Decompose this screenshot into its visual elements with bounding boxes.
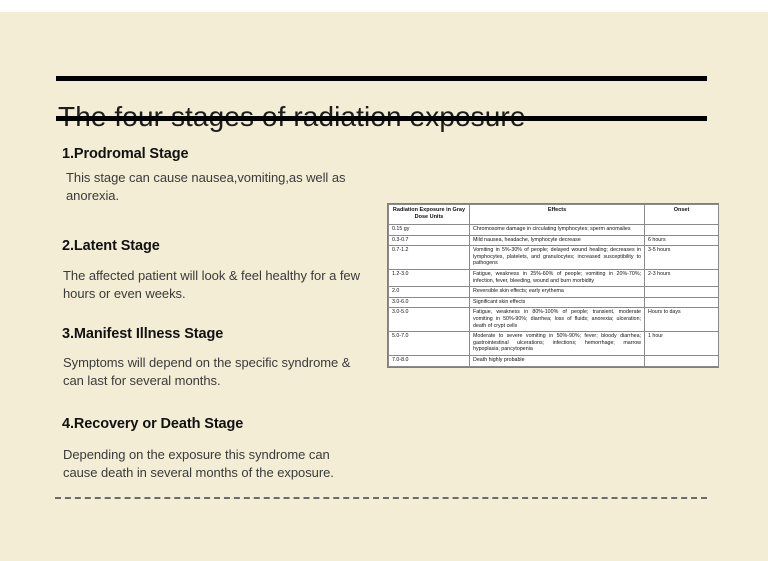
table-row: 0.15 gyChromosome damage in circulating …: [389, 225, 719, 236]
table-row: 3.0-5.0Fatigue, weakness in 80%-100% of …: [389, 308, 719, 332]
column-header-effects: Effects: [470, 205, 645, 225]
table-row: 7.0-8.0Death highly probable: [389, 355, 719, 366]
table-row: 5.0-7.0Moderate to severe vomiting in 50…: [389, 332, 719, 356]
cell-effects: Significant skin effects: [470, 297, 645, 308]
title-rule-top: [56, 76, 707, 81]
cell-onset: [645, 297, 719, 308]
stage-heading: 4.Recovery or Death Stage: [62, 415, 372, 433]
table-row: 1.2-3.0Fatigue, weakness in 25%-60% of p…: [389, 269, 719, 286]
cell-onset: 3-5 hours: [645, 246, 719, 270]
cell-dose: 3.0-6.0: [389, 297, 470, 308]
stage-item-manifest-illness: 3.Manifest Illness Stage Symptoms will d…: [62, 325, 372, 389]
cell-effects: Vomiting in 5%-30% of people; delayed wo…: [470, 246, 645, 270]
stage-item-prodromal: 1.Prodromal Stage This stage can cause n…: [62, 145, 372, 204]
cell-dose: 7.0-8.0: [389, 355, 470, 366]
dashed-divider: [55, 497, 707, 499]
stage-item-latent: 2.Latent Stage The affected patient will…: [62, 237, 372, 302]
cell-effects: Mild nausea, headache, lymphocyte decrea…: [470, 235, 645, 246]
column-header-onset: Onset: [645, 205, 719, 225]
cell-effects: Moderate to severe vomiting in 50%-90%; …: [470, 332, 645, 356]
stage-heading: 2.Latent Stage: [62, 237, 372, 255]
cell-onset: [645, 225, 719, 236]
table-row: 3.0-6.0Significant skin effects: [389, 297, 719, 308]
title-rule-bottom: [56, 116, 707, 121]
table-row: 0.3-0.7Mild nausea, headache, lymphocyte…: [389, 235, 719, 246]
stage-item-recovery-or-death: 4.Recovery or Death Stage Depending on t…: [62, 415, 372, 481]
table-row: 0.7-1.2Vomiting in 5%-30% of people; del…: [389, 246, 719, 270]
cell-dose: 0.3-0.7: [389, 235, 470, 246]
cell-onset: 1 hour: [645, 332, 719, 356]
cell-effects: Chromosome damage in circulating lymphoc…: [470, 225, 645, 236]
slide-canvas: The four stages of radiation exposure 1.…: [0, 12, 768, 561]
column-header-dose: Radiation Exposure in Gray Dose Units: [389, 205, 470, 225]
cell-effects: Reversible skin effects; early erythema: [470, 287, 645, 298]
cell-onset: 2-3 hours: [645, 269, 719, 286]
cell-dose: 3.0-5.0: [389, 308, 470, 332]
cell-onset: 6 hours: [645, 235, 719, 246]
cell-dose: 1.2-3.0: [389, 269, 470, 286]
cell-dose: 2.0: [389, 287, 470, 298]
cell-effects: Fatigue, weakness in 80%-100% of people;…: [470, 308, 645, 332]
stage-body: The affected patient will look & feel he…: [63, 267, 365, 302]
table-header-row: Radiation Exposure in Gray Dose Units Ef…: [389, 205, 719, 225]
cell-effects: Death highly probable: [470, 355, 645, 366]
cell-dose: 0.15 gy: [389, 225, 470, 236]
stage-body: Symptoms will depend on the specific syn…: [63, 354, 359, 389]
table-row: 2.0Reversible skin effects; early erythe…: [389, 287, 719, 298]
cell-dose: 5.0-7.0: [389, 332, 470, 356]
stage-heading: 3.Manifest Illness Stage: [62, 325, 372, 343]
radiation-effects-table: Radiation Exposure in Gray Dose Units Ef…: [387, 203, 719, 368]
cell-onset: Hours to days: [645, 308, 719, 332]
cell-effects: Fatigue, weakness in 25%-60% of people; …: [470, 269, 645, 286]
stage-body: This stage can cause nausea,vomiting,as …: [66, 169, 366, 204]
stage-body: Depending on the exposure this syndrome …: [63, 446, 363, 481]
cell-dose: 0.7-1.2: [389, 246, 470, 270]
stage-heading: 1.Prodromal Stage: [62, 145, 372, 163]
cell-onset: [645, 355, 719, 366]
cell-onset: [645, 287, 719, 298]
